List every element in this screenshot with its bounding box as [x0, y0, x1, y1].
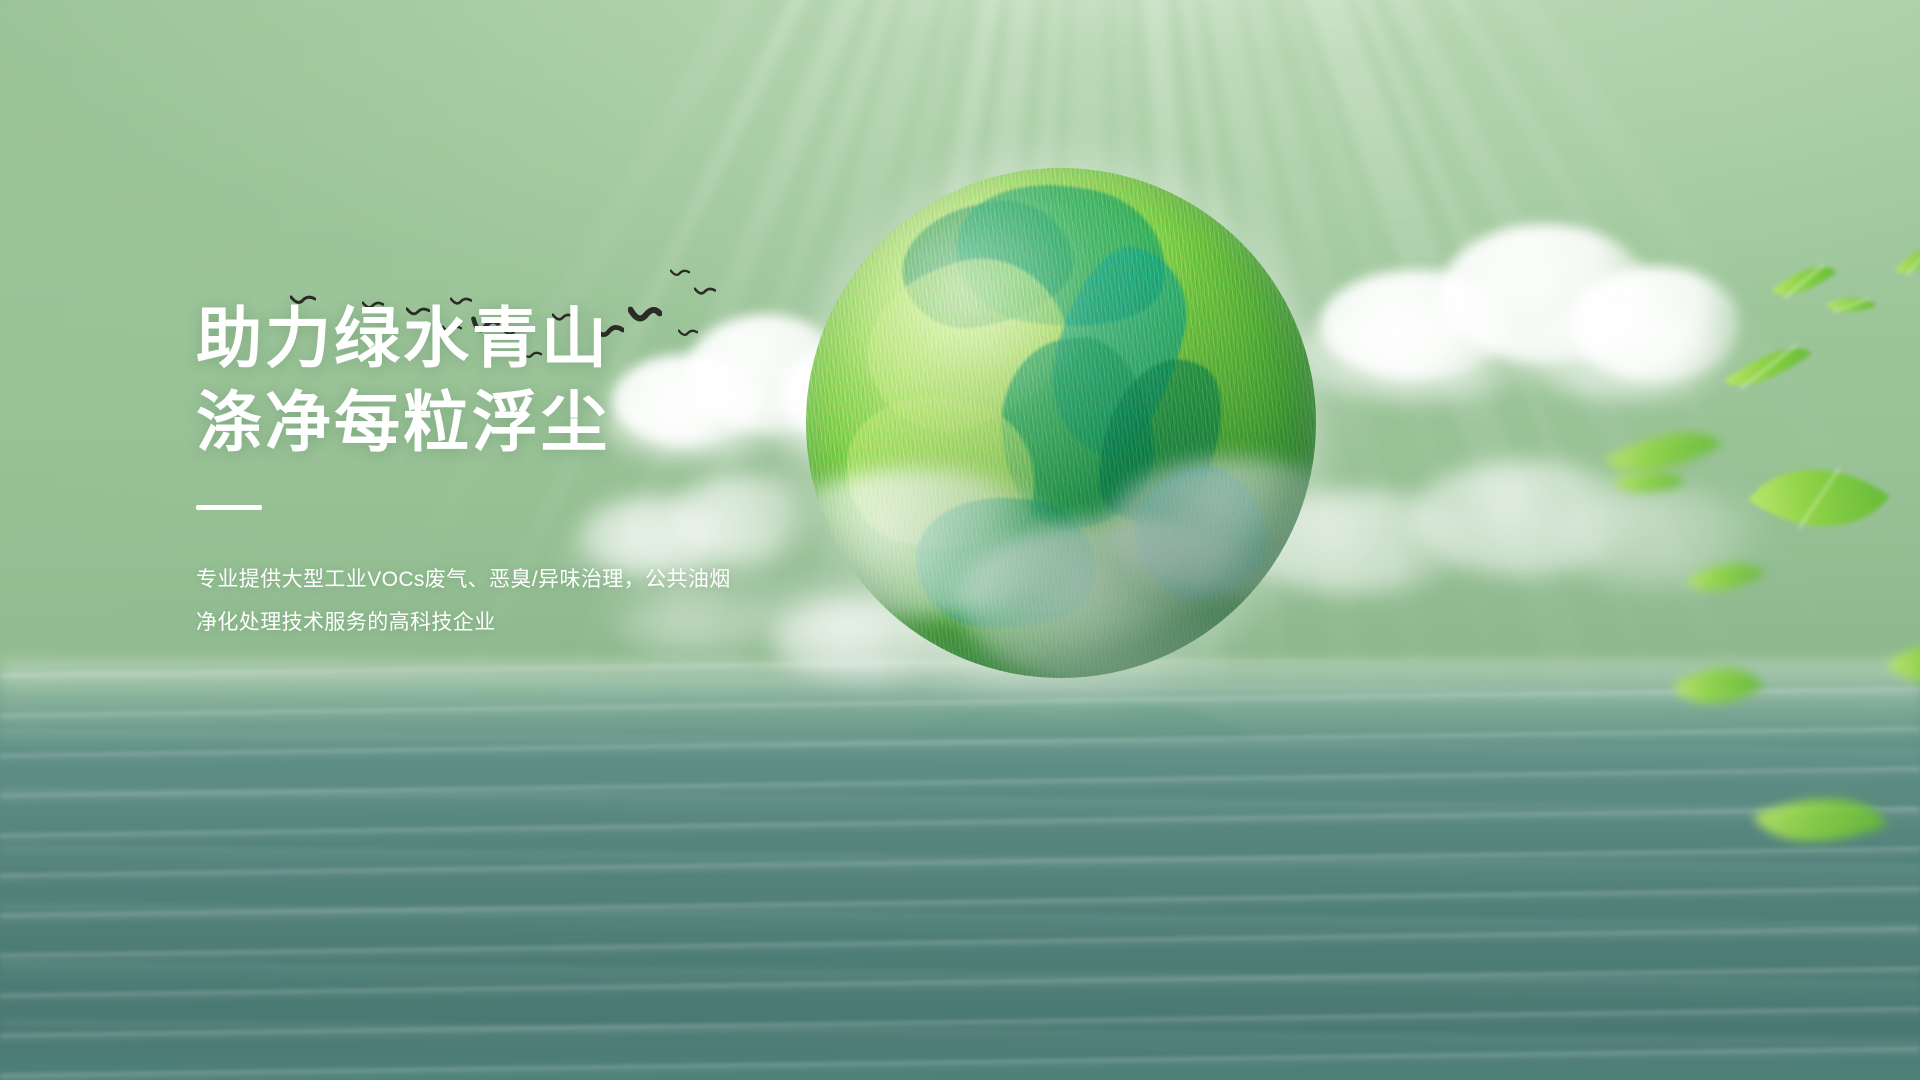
- headline-line-1: 助力绿水青山: [196, 296, 816, 380]
- water-surface: [0, 660, 1920, 1080]
- hero-copy: 助力绿水青山 涤净每粒浮尘 专业提供大型工业VOCs废气、恶臭/异味治理，公共油…: [196, 296, 816, 644]
- title-divider: [196, 505, 262, 510]
- headline-line-2: 涤净每粒浮尘: [196, 380, 816, 464]
- page-title: 助力绿水青山 涤净每粒浮尘: [196, 296, 816, 465]
- earth-globe: [806, 168, 1316, 678]
- water-ripples-secondary: [0, 660, 1920, 1080]
- hero-banner: 助力绿水青山 涤净每粒浮尘 专业提供大型工业VOCs废气、恶臭/异味治理，公共油…: [0, 0, 1920, 1080]
- hero-subtitle: 专业提供大型工业VOCs废气、恶臭/异味治理，公共油烟净化处理技术服务的高科技企…: [196, 558, 741, 644]
- globe-sphere: [806, 168, 1316, 678]
- cloud-upper-right: [1290, 200, 1710, 420]
- bird-icon: [670, 268, 690, 281]
- globe-rim-light: [806, 168, 1316, 678]
